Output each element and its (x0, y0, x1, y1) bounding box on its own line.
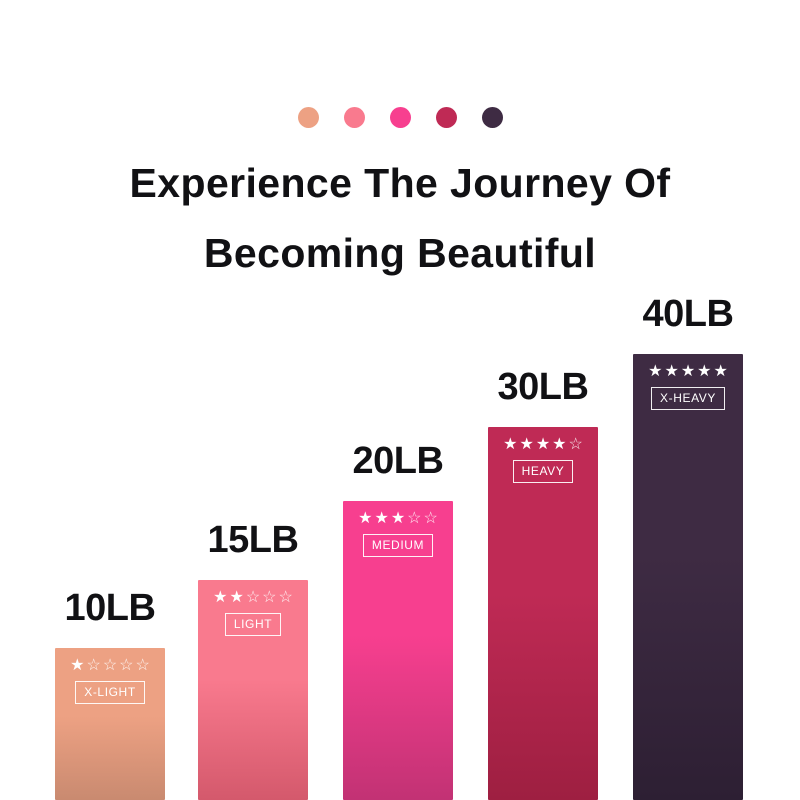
tier-badge-10lb: X-LIGHT (75, 681, 145, 704)
bar-value-label-30lb: 30LB (498, 367, 589, 407)
star-empty-icon: ☆ (279, 590, 293, 606)
infographic-root: Experience The Journey Of Becoming Beaut… (0, 0, 800, 800)
star-filled-icon: ★ (213, 590, 227, 606)
bar-rating-block-20lb: ★★★☆☆MEDIUM (343, 511, 453, 557)
bar-rating-block-30lb: ★★★★☆HEAVY (488, 437, 598, 483)
star-empty-icon: ☆ (424, 511, 438, 527)
star-filled-icon: ★ (536, 437, 550, 453)
star-empty-icon: ☆ (262, 590, 276, 606)
star-rating-20lb: ★★★☆☆ (358, 511, 438, 527)
star-filled-icon: ★ (391, 511, 405, 527)
star-filled-icon: ★ (552, 437, 566, 453)
star-filled-icon: ★ (70, 658, 84, 674)
star-filled-icon: ★ (229, 590, 243, 606)
star-empty-icon: ☆ (86, 658, 100, 674)
tier-badge-40lb: X-HEAVY (651, 387, 725, 410)
star-rating-30lb: ★★★★☆ (503, 437, 583, 453)
star-rating-40lb: ★★★★★ (648, 364, 728, 380)
bar-40lb[interactable] (633, 354, 743, 800)
bar-rating-block-40lb: ★★★★★X-HEAVY (633, 364, 743, 410)
star-empty-icon: ☆ (103, 658, 117, 674)
resistance-band-bar-chart: 10LB★☆☆☆☆X-LIGHT15LB★★☆☆☆LIGHT20LB★★★☆☆M… (0, 0, 800, 800)
star-filled-icon: ★ (519, 437, 533, 453)
star-filled-icon: ★ (664, 364, 678, 380)
star-filled-icon: ★ (697, 364, 711, 380)
star-filled-icon: ★ (358, 511, 372, 527)
star-rating-10lb: ★☆☆☆☆ (70, 658, 150, 674)
star-filled-icon: ★ (681, 364, 695, 380)
tier-badge-30lb: HEAVY (513, 460, 574, 483)
tier-badge-15lb: LIGHT (225, 613, 281, 636)
star-empty-icon: ☆ (119, 658, 133, 674)
bar-value-label-20lb: 20LB (353, 441, 444, 481)
star-empty-icon: ☆ (136, 658, 150, 674)
bar-rating-block-10lb: ★☆☆☆☆X-LIGHT (55, 658, 165, 704)
bar-value-label-15lb: 15LB (208, 520, 299, 560)
bar-group-40lb[interactable] (633, 354, 743, 800)
bar-rating-block-15lb: ★★☆☆☆LIGHT (198, 590, 308, 636)
tier-badge-20lb: MEDIUM (363, 534, 433, 557)
star-filled-icon: ★ (503, 437, 517, 453)
star-filled-icon: ★ (648, 364, 662, 380)
bar-value-label-40lb: 40LB (643, 294, 734, 334)
bar-value-label-10lb: 10LB (65, 588, 156, 628)
star-filled-icon: ★ (374, 511, 388, 527)
star-filled-icon: ★ (714, 364, 728, 380)
star-rating-15lb: ★★☆☆☆ (213, 590, 293, 606)
star-empty-icon: ☆ (569, 437, 583, 453)
star-empty-icon: ☆ (407, 511, 421, 527)
star-empty-icon: ☆ (246, 590, 260, 606)
